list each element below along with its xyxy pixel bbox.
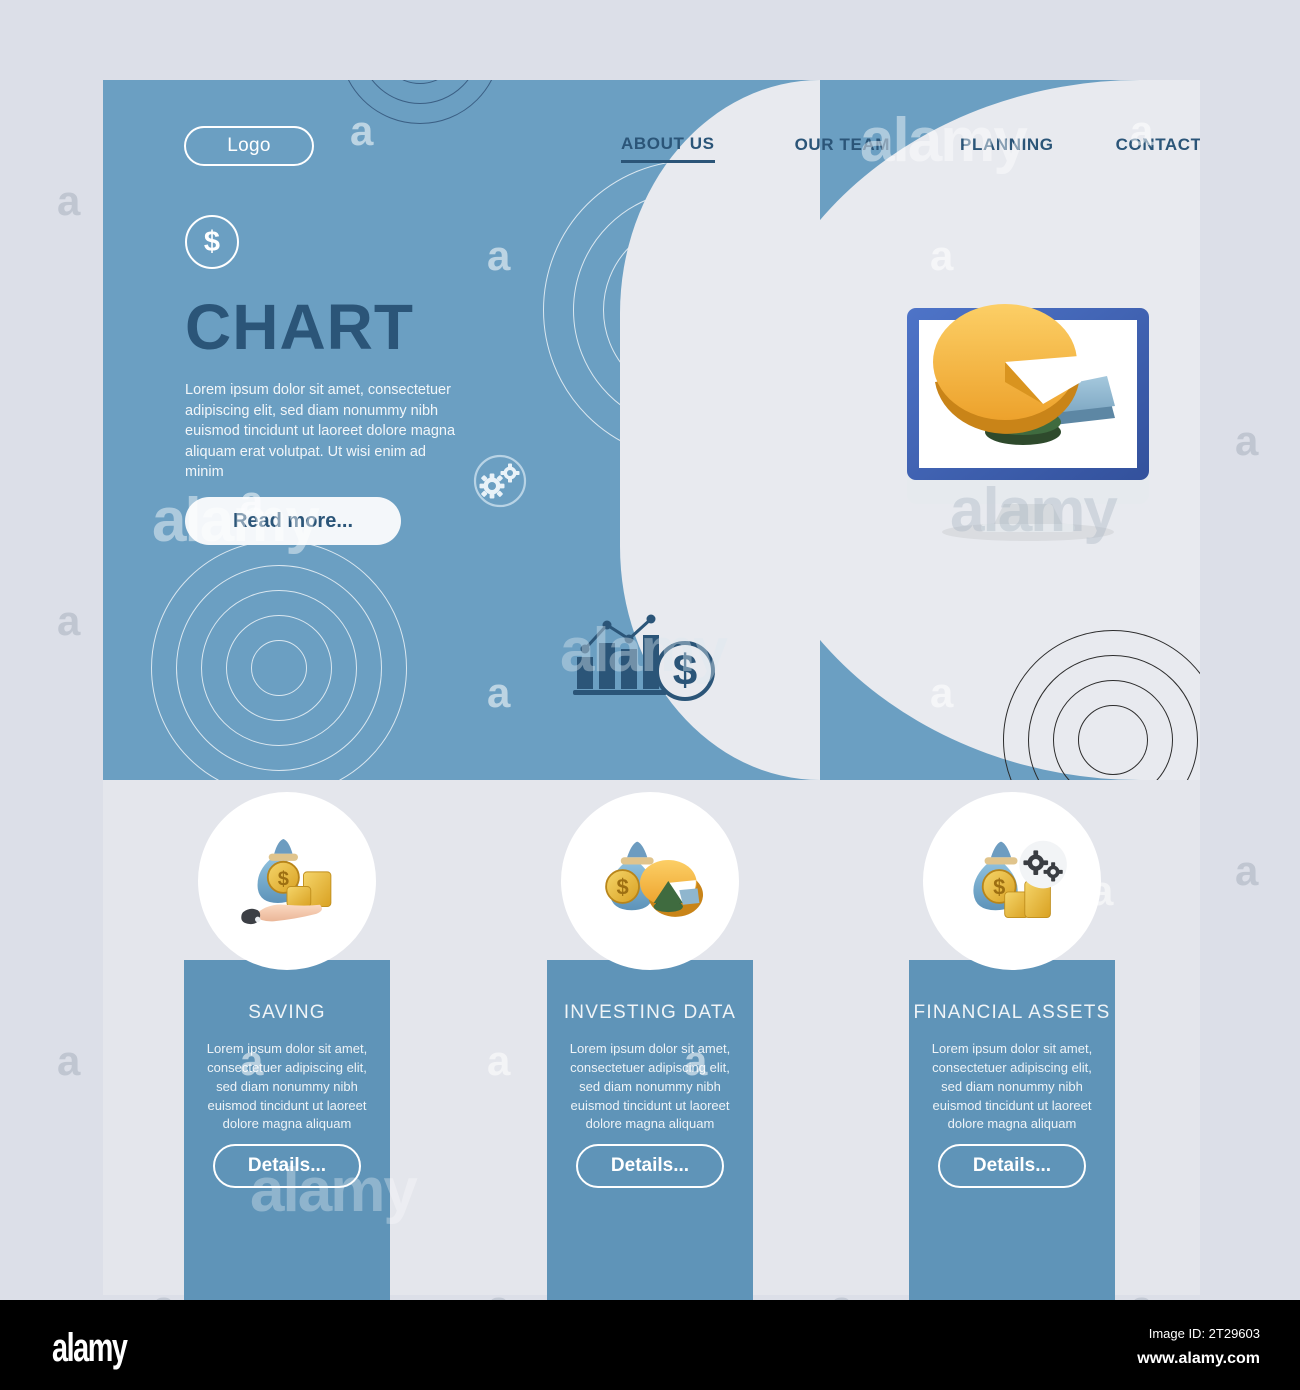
nav-item-about-us[interactable]: ABOUT US (621, 134, 715, 163)
image-id-label: Image ID: 2T29603 (1149, 1326, 1260, 1341)
feature-card-title-saving: SAVING (184, 1002, 390, 1024)
gears-icon (465, 453, 535, 515)
nav-item-contacts[interactable]: CONTACTS (1116, 135, 1200, 161)
feature-card-text-saving: Lorem ipsum dolor sit amet, consectetuer… (197, 1040, 377, 1134)
details-label-financial-assets: Details... (973, 1155, 1051, 1177)
svg-text:$: $ (616, 875, 628, 900)
logo-label: Logo (227, 135, 270, 157)
details-button-investing-data[interactable]: Details... (576, 1144, 724, 1188)
svg-text:$: $ (993, 875, 1005, 900)
details-label-investing-data: Details... (611, 1155, 689, 1177)
hero-paragraph: Lorem ipsum dolor sit amet, consectetuer… (185, 380, 460, 483)
dollar-sign-icon: $ (185, 215, 239, 269)
page-title: CHART (185, 290, 414, 364)
watermark-letter: a (1235, 420, 1258, 462)
stock-footer-bar: alamy Image ID: 2T29603 www.alamy.com (0, 1300, 1300, 1390)
hand-money-bag-coins-icon: $ (223, 817, 351, 945)
alamy-logo: alamy (52, 1326, 126, 1371)
main-navigation: ABOUT US OUR TEAM PLANNING CONTACTS (613, 130, 1173, 166)
bar-chart-dollar-icon: $ (573, 605, 723, 705)
feature-card-icon-saving: $ (198, 792, 376, 970)
read-more-label: Read more... (233, 510, 353, 533)
details-button-saving[interactable]: Details... (213, 1144, 361, 1188)
read-more-button[interactable]: Read more... (185, 497, 401, 545)
feature-card-list: $ SAVING Lorem ipsum dolor sit amet, con… (103, 780, 1200, 1295)
feature-card-text-investing-data: Lorem ipsum dolor sit amet, consectetuer… (560, 1040, 740, 1134)
feature-card-title-investing-data: INVESTING DATA (547, 1002, 753, 1024)
alamy-url: www.alamy.com (1137, 1350, 1260, 1368)
logo-button[interactable]: Logo (184, 126, 314, 166)
watermark-letter: a (57, 1040, 80, 1082)
details-label-saving: Details... (248, 1155, 326, 1177)
feature-card-title-financial-assets: FINANCIAL ASSETS (909, 1002, 1115, 1024)
feature-card-icon-financial-assets: $ (923, 792, 1101, 970)
watermark-letter: a (1235, 850, 1258, 892)
watermark-letter: a (57, 600, 80, 642)
feature-card-text-financial-assets: Lorem ipsum dolor sit amet, consectetuer… (922, 1040, 1102, 1134)
money-bag-pie-chart-icon: $ (586, 817, 714, 945)
details-button-financial-assets[interactable]: Details... (938, 1144, 1086, 1188)
svg-text:$: $ (673, 646, 697, 695)
dollar-symbol: $ (204, 226, 220, 259)
hero-section: Logo ABOUT US OUR TEAM PLANNING CONTACTS… (103, 80, 1200, 780)
nav-item-our-team[interactable]: OUR TEAM (795, 135, 890, 161)
nav-item-planning[interactable]: PLANNING (960, 135, 1054, 161)
feature-card-icon-investing-data: $ (561, 792, 739, 970)
money-bag-coins-gears-icon: $ (948, 817, 1076, 945)
features-section: $ SAVING Lorem ipsum dolor sit amet, con… (103, 780, 1200, 1295)
monitor-pie-chart-illustration (893, 270, 1163, 550)
watermark-letter: a (57, 180, 80, 222)
landing-page-mockup: Logo ABOUT US OUR TEAM PLANNING CONTACTS… (103, 80, 1200, 1295)
decor-ring-white-10 (151, 540, 407, 780)
decor-ring-dark-4 (339, 80, 501, 124)
svg-text:$: $ (278, 869, 289, 891)
